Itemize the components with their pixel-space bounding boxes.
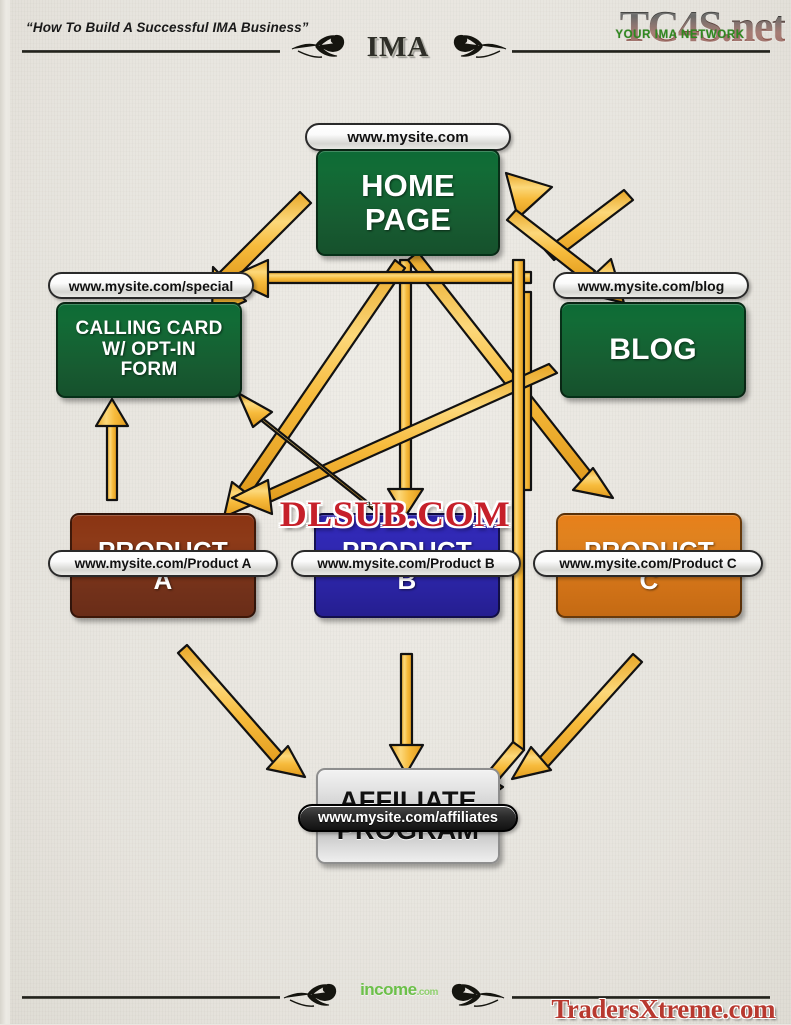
income-logo[interactable]: income.com: [356, 980, 442, 1000]
income-logo-tld: .com: [417, 987, 438, 998]
tc4s-logo-text: TC4S.net: [581, 2, 785, 52]
url-pill-calling-card[interactable]: www.mysite.com/special: [48, 272, 254, 299]
page-header: “How To Build A Successful IMA Business”…: [0, 0, 791, 70]
arrow-product-a-to-calling-card: [96, 399, 128, 500]
arrow-product-b-to-affiliate: [390, 654, 423, 774]
header-rule-left: [22, 50, 280, 53]
url-pill-product-c[interactable]: www.mysite.com/Product C: [533, 550, 763, 577]
page-footer: income.com TradersXtreme.com: [0, 954, 791, 1024]
flourish-ornament-icon: [446, 31, 508, 65]
site-map-diagram: www.mysite.com HOME PAGE www.mysite.com/…: [0, 70, 791, 954]
tc4s-logo-tagline: YOUR IMA NETWORK: [581, 29, 779, 41]
arrow-product-a-to-affiliate: [178, 645, 305, 777]
header-tagline: “How To Build A Successful IMA Business”: [26, 20, 309, 35]
url-pill-product-b[interactable]: www.mysite.com/Product B: [291, 550, 521, 577]
header-ima-mark: IMA: [352, 31, 444, 64]
box-blog[interactable]: BLOG: [560, 302, 746, 398]
arrow-home-to-product-b: [388, 260, 423, 517]
arrow-product-c-to-affiliate: [512, 654, 642, 779]
url-pill-affiliate-program[interactable]: www.mysite.com/affiliates: [298, 804, 518, 832]
box-calling-card[interactable]: CALLING CARD W/ OPT-IN FORM: [56, 302, 242, 398]
tc4s-logo[interactable]: TC4S.net YOUR IMA NETWORK: [581, 2, 785, 58]
url-pill-product-a[interactable]: www.mysite.com/Product A: [48, 550, 278, 577]
flourish-ornament-icon: [444, 980, 506, 1014]
income-logo-name: income: [360, 980, 417, 999]
box-home-page[interactable]: HOME PAGE: [316, 149, 500, 256]
flourish-ornament-icon: [282, 980, 344, 1014]
flourish-ornament-icon: [290, 31, 352, 65]
url-pill-blog[interactable]: www.mysite.com/blog: [553, 272, 749, 299]
footer-rule-left: [22, 996, 280, 999]
url-pill-home-page[interactable]: www.mysite.com: [305, 123, 511, 151]
tradersxtreme-brand[interactable]: TradersXtreme.com: [551, 994, 775, 1025]
